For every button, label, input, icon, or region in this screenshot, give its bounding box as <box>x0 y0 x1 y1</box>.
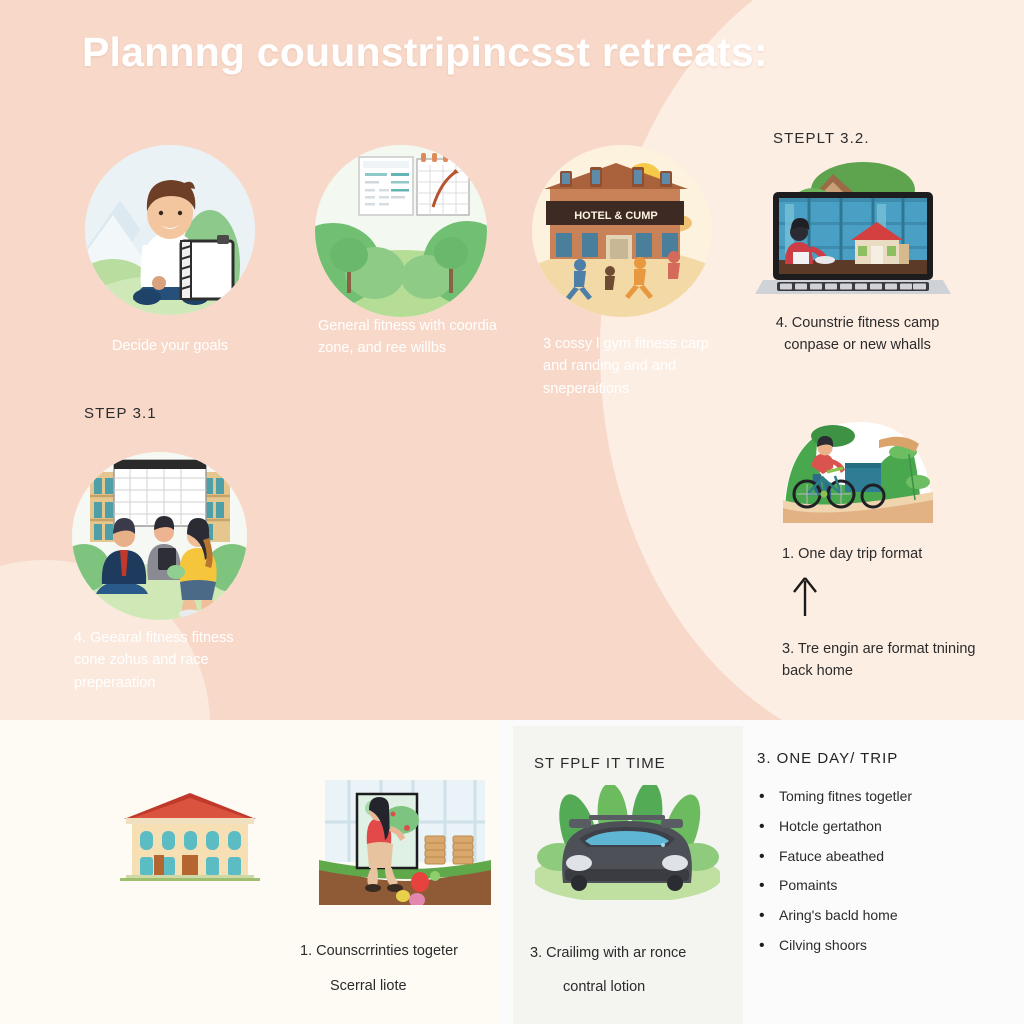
caption-communities-together-sub: Scerral liote <box>330 975 530 997</box>
illustration-calendar-boards <box>315 145 487 317</box>
step-label-3-2: STEPLT 3.2. <box>773 130 870 147</box>
page-title: Plannng couunstripincsst retreats: <box>82 30 962 75</box>
illustration-person-with-notebook <box>85 145 255 315</box>
illustration-hotel-camp: HOTEL & CUMP <box>532 145 712 317</box>
caption-decide-your-goals: Decide your goals <box>70 335 270 357</box>
calendar-boards-icon <box>315 145 487 317</box>
list-item: Pomaints <box>757 877 1007 894</box>
list-item: Aring's bacld home <box>757 907 1007 924</box>
list-item: Fatuce abeathed <box>757 848 1007 865</box>
infographic-canvas: Plannng couunstripincsst retreats: STEPL… <box>0 0 1024 1024</box>
illustration-laptop-booking <box>755 160 955 310</box>
garden-picking-icon <box>315 780 495 905</box>
hotel-sign-text: HOTEL & CUMP <box>574 210 658 222</box>
bullet-panel-header: 3. ONE DAY/ TRIP <box>757 750 898 767</box>
bullet-list: Toming fitnes togetler Hotcle gertathon … <box>757 788 1007 967</box>
step-label-3-1: STEP 3.1 <box>84 405 157 422</box>
illustration-car <box>535 785 720 900</box>
caption-one-day-trip-format: 1. One day trip format <box>782 543 982 565</box>
illustration-garden-scene <box>315 780 495 905</box>
caption-countryside-fitness-camp: 4. Counstrie fitness camp conpase or new… <box>755 312 960 357</box>
caption-general-fitness-zones: 4. Geearal fitness fitness cone zohus an… <box>74 627 264 694</box>
panel-header-split-time: ST FPLF IT TIME <box>534 752 666 775</box>
car-front-icon <box>535 785 720 900</box>
caption-general-fitness: General fitness with coordia zone, and r… <box>318 315 498 360</box>
group-planning-calendar-icon <box>72 452 247 620</box>
illustration-guesthouse <box>110 785 270 895</box>
illustration-cyclist <box>783 418 933 523</box>
arrow-up-indicator <box>790 575 820 617</box>
laptop-booking-icon <box>755 160 955 310</box>
caption-gym-fitness-camp: 3 cossy l gym fitness carp and randing a… <box>543 333 723 400</box>
hotel-camp-building-icon: HOTEL & CUMP <box>532 145 712 317</box>
guesthouse-building-icon <box>110 785 270 895</box>
list-item: Hotcle gertathon <box>757 818 1007 835</box>
caption-training-back-home: 3. Tre engin are format tnining back hom… <box>782 638 992 683</box>
caption-traveling-with-car-sub: contral lotion <box>563 976 763 998</box>
person-with-notebook-icon <box>85 145 255 315</box>
caption-communities-together: 1. Counscrrinties togeter <box>300 940 515 962</box>
caption-traveling-with-car: 3. Crailimg with ar ronce <box>530 942 745 964</box>
list-item: Cilving shoors <box>757 937 1007 954</box>
arrow-up-icon <box>790 575 820 617</box>
list-item: Toming fitnes togetler <box>757 788 1007 805</box>
cyclist-with-trailer-icon <box>783 418 933 523</box>
illustration-group-planning <box>72 452 247 620</box>
